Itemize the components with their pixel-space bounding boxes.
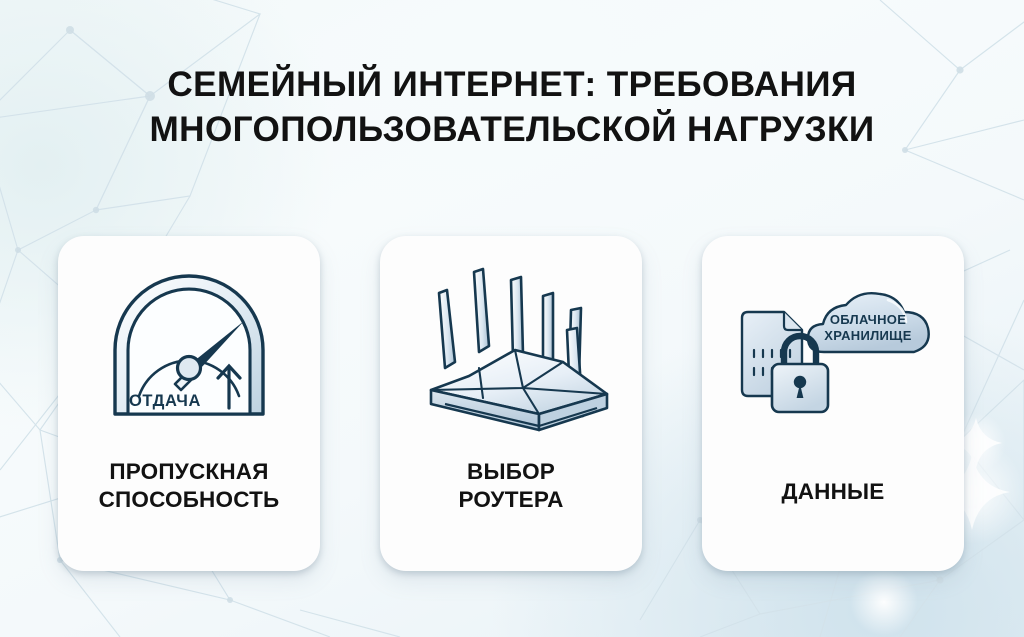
card-bandwidth-icon-area: ОТДАЧА xyxy=(58,236,320,451)
wifi-router-icon xyxy=(411,258,611,436)
gauge-caption: ОТДАЧА xyxy=(129,392,201,410)
cloud-caption-line-2: ХРАНИЛИЩЕ xyxy=(824,328,911,343)
card-router-label-line-1: ВЫБОР xyxy=(467,459,555,484)
page-title: СЕМЕЙНЫЙ ИНТЕРНЕТ: ТРЕБОВАНИЯ МНОГОПОЛЬЗ… xyxy=(0,62,1024,152)
card-row: ОТДАЧА ПРОПУСКНАЯ СПОСОБНОСТЬ xyxy=(58,236,964,571)
speed-gauge-icon: ОТДАЧА xyxy=(105,264,273,426)
card-data-label: ДАННЫЕ xyxy=(708,478,958,506)
cloud-caption-line-1: ОБЛАЧНОЕ xyxy=(830,312,906,327)
page-title-line-2: МНОГОПОЛЬЗОВАТЕЛЬСКОЙ НАГРУЗКИ xyxy=(5,107,1019,152)
card-bandwidth-label-line-2: СПОСОБНОСТЬ xyxy=(99,487,280,512)
cloud-document-lock-icon: ОБЛАЧНОЕ ХРАНИЛИЩЕ xyxy=(728,278,938,420)
card-bandwidth-label-line-1: ПРОПУСКНАЯ xyxy=(109,459,268,484)
infographic-canvas: СЕМЕЙНЫЙ ИНТЕРНЕТ: ТРЕБОВАНИЯ МНОГОПОЛЬЗ… xyxy=(0,0,1024,637)
card-data[interactable]: ОБЛАЧНОЕ ХРАНИЛИЩЕ xyxy=(702,236,964,571)
card-bandwidth-label: ПРОПУСКНАЯ СПОСОБНОСТЬ xyxy=(64,458,314,514)
card-router-choice[interactable]: ВЫБОР РОУТЕРА xyxy=(380,236,642,571)
card-data-label-line-1: ДАННЫЕ xyxy=(781,479,884,504)
card-router-label: ВЫБОР РОУТЕРА xyxy=(386,458,636,514)
card-data-icon-area: ОБЛАЧНОЕ ХРАНИЛИЩЕ xyxy=(702,236,964,451)
card-router-label-line-2: РОУТЕРА xyxy=(458,487,563,512)
card-router-icon-area xyxy=(380,236,642,451)
page-title-line-1: СЕМЕЙНЫЙ ИНТЕРНЕТ: ТРЕБОВАНИЯ xyxy=(5,62,1019,107)
card-bandwidth[interactable]: ОТДАЧА ПРОПУСКНАЯ СПОСОБНОСТЬ xyxy=(58,236,320,571)
